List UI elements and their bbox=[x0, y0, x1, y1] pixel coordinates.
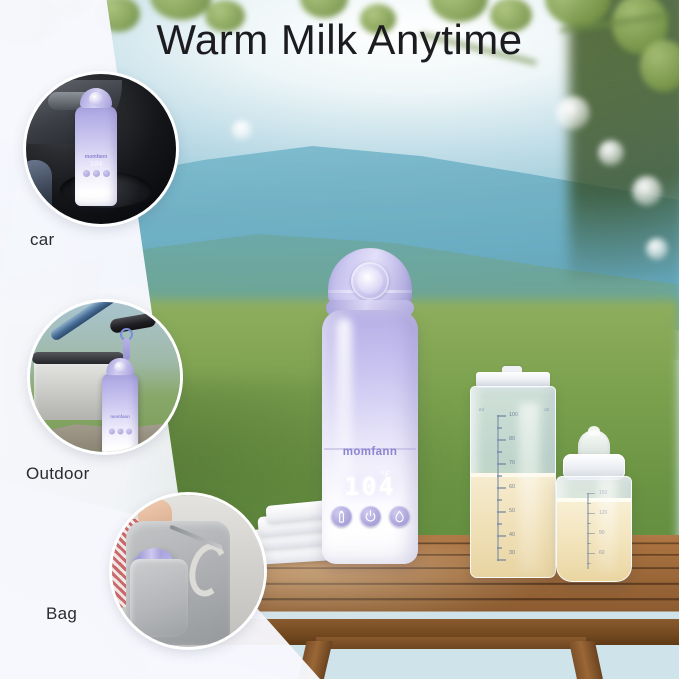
mini-water-mode-button bbox=[126, 429, 132, 435]
baby-bottle-scale bbox=[587, 493, 589, 569]
bag-unit-ml: ml bbox=[479, 407, 484, 415]
callout-label-bag: Bag bbox=[46, 604, 77, 624]
power-button[interactable] bbox=[360, 506, 381, 527]
led-temperature-display: 104 bbox=[322, 472, 418, 501]
bag-scale-label: 50 bbox=[509, 508, 515, 514]
bag-unit-oz: oz bbox=[544, 407, 549, 415]
product-lifestyle-image: ml oz 100 80 70 60 50 bbox=[0, 0, 679, 679]
callout-label-outdoor: Outdoor bbox=[26, 464, 90, 484]
bag-side-pocket bbox=[130, 559, 188, 637]
control-button-row bbox=[322, 506, 418, 527]
callout-car[interactable]: 104 momfann bbox=[26, 74, 176, 224]
bag-highlight bbox=[519, 403, 539, 573]
mini-power-button bbox=[117, 429, 123, 435]
callout-bag[interactable] bbox=[112, 495, 264, 647]
bottle-warmer-in-car: 104 momfann bbox=[75, 88, 117, 206]
callout-outdoor[interactable]: momfann bbox=[30, 302, 180, 452]
car-gear-shifter bbox=[26, 160, 52, 212]
bag-body: ml oz 100 80 70 60 50 bbox=[470, 386, 556, 578]
bag-scale-label: 70 bbox=[509, 460, 515, 466]
cap-latch-inner bbox=[357, 268, 383, 294]
mini-brand-logo: momfann bbox=[102, 415, 138, 420]
portable-bottle-warmer: momfann 104 °F bbox=[322, 248, 418, 564]
baby-bottle-highlight bbox=[598, 478, 616, 573]
table-leg-right bbox=[569, 641, 607, 679]
bag-scale-label: 100 bbox=[509, 412, 518, 418]
bokeh-light bbox=[598, 140, 624, 166]
table-brace bbox=[316, 637, 586, 649]
mini-water-mode-button bbox=[103, 170, 110, 177]
bokeh-light bbox=[646, 238, 668, 260]
bokeh-light bbox=[632, 176, 662, 206]
bokeh-light bbox=[232, 120, 252, 140]
baby-bottle-body: 150 120 90 60 bbox=[556, 476, 632, 582]
baby-bottle: 150 120 90 60 bbox=[552, 430, 636, 582]
mini-bottle-mode-button bbox=[108, 429, 114, 435]
page-title: Warm Milk Anytime bbox=[0, 16, 679, 64]
bag-scale-label: 40 bbox=[509, 532, 515, 538]
bokeh-light bbox=[556, 96, 590, 130]
bottle-warmer-on-stroller: momfann bbox=[102, 358, 138, 452]
bottle-mode-button[interactable] bbox=[331, 506, 352, 527]
mini-power-button bbox=[93, 170, 100, 177]
callout-label-car: car bbox=[30, 230, 55, 250]
brand-logo: momfann bbox=[322, 446, 418, 458]
bag-measure-scale bbox=[497, 415, 499, 561]
water-mode-button[interactable] bbox=[389, 506, 410, 527]
bottle-icon bbox=[335, 510, 348, 523]
water-drop-icon bbox=[393, 510, 406, 523]
breast-milk-storage-bag: ml oz 100 80 70 60 50 bbox=[470, 372, 556, 578]
mini-brand-logo: momfann bbox=[75, 154, 117, 160]
baby-bottle-milk-fill bbox=[557, 498, 631, 581]
bag-scale-label: 80 bbox=[509, 436, 515, 442]
bag-scale-label: 60 bbox=[509, 484, 515, 490]
led-unit-label: °F bbox=[380, 470, 390, 479]
power-icon bbox=[364, 510, 377, 523]
mini-bottle-mode-button bbox=[83, 170, 90, 177]
hanging-strap bbox=[123, 338, 130, 360]
bag-scale-label: 30 bbox=[509, 550, 515, 556]
